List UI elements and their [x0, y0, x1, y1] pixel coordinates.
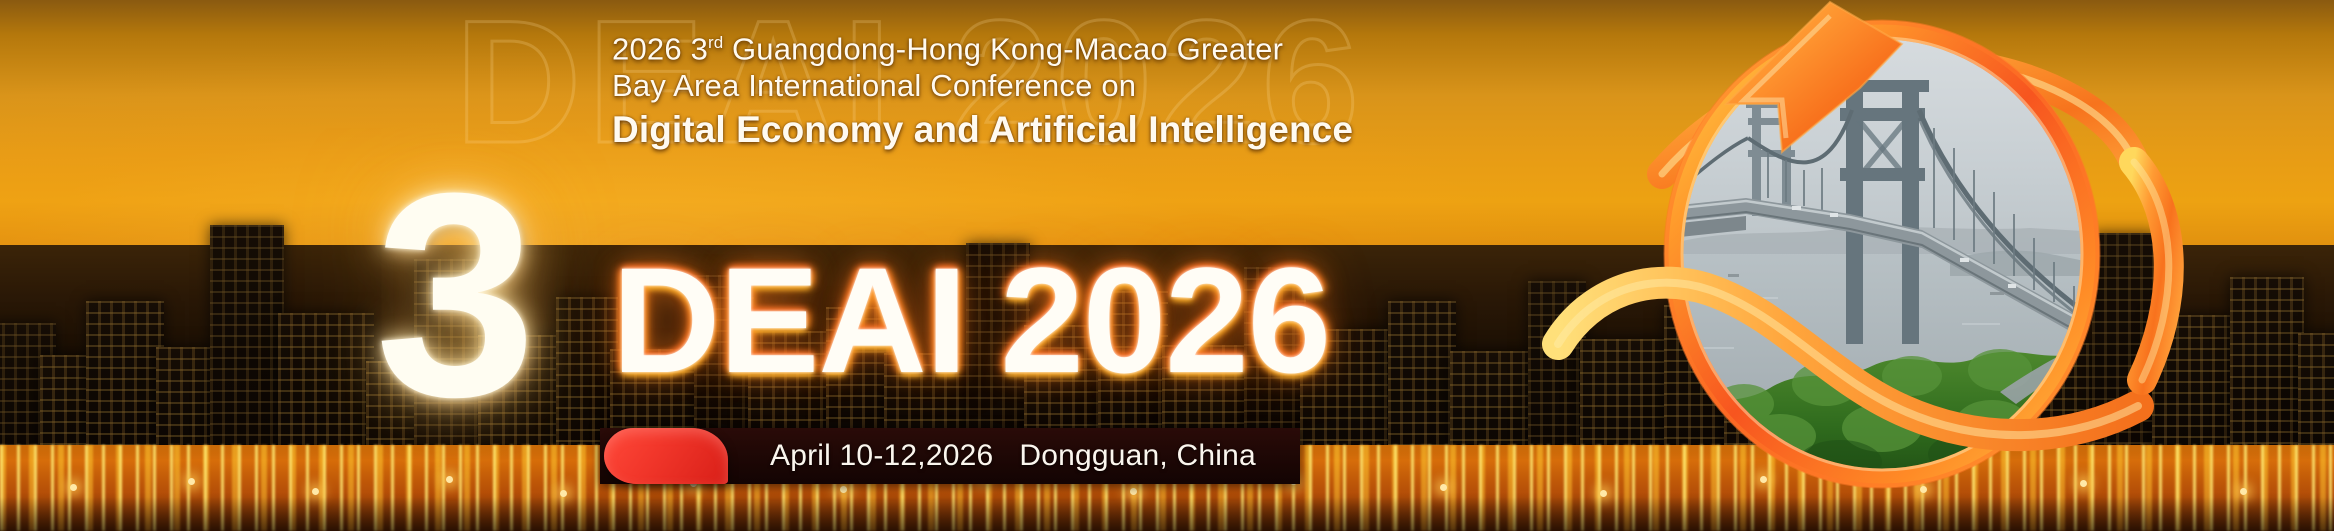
- logotype-acronym: DEAI: [612, 236, 966, 404]
- bridge-globe-emblem: [1530, 0, 2230, 512]
- red-ribbon-tab: [604, 428, 728, 484]
- conference-dates: April 10-12,2026: [770, 439, 993, 473]
- title-line-2: Bay Area International Conference on: [612, 67, 1592, 104]
- logotype-year: 2026: [1000, 236, 1330, 404]
- title-line-3-topic: Digital Economy and Artificial Intellige…: [612, 107, 1592, 153]
- edition-number-3: 3: [375, 150, 536, 440]
- conference-banner: DEAI 2026 2026 3rd Guangdong-Hong Kong-M…: [0, 0, 2334, 531]
- conference-location: Dongguan, China: [1019, 439, 1256, 473]
- title-line-1-post: Guangdong-Hong Kong-Macao Greater: [723, 31, 1283, 66]
- conference-title-block: 2026 3rd Guangdong-Hong Kong-Macao Great…: [612, 24, 1592, 153]
- ordinal-suffix: rd: [708, 33, 723, 52]
- title-line-1: 2026 3rd Guangdong-Hong Kong-Macao Great…: [612, 24, 1592, 67]
- title-line-1-pre: 2026 3: [612, 31, 708, 66]
- date-location-text: April 10-12,2026 Dongguan, China: [770, 428, 1256, 484]
- deai-logotype: DEAI2026: [612, 245, 1330, 395]
